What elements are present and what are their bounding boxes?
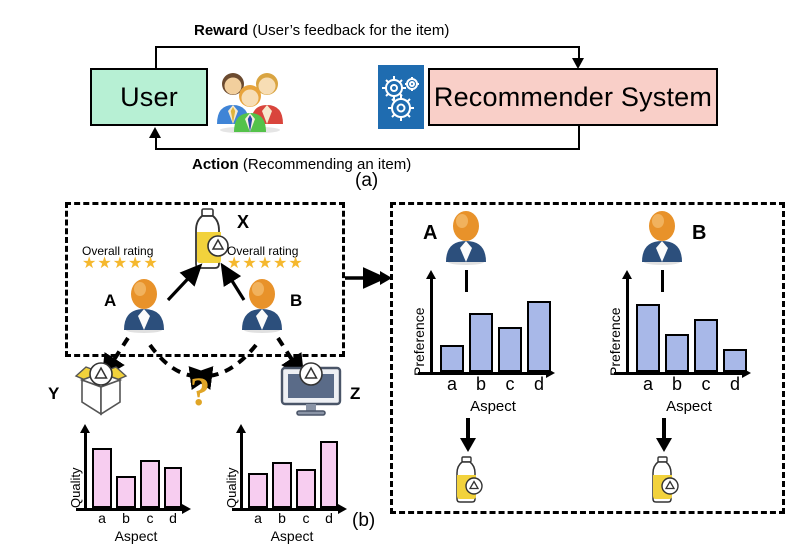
chart-quality-y-xlabel: Aspect <box>86 528 186 544</box>
bar-d <box>164 467 182 508</box>
xtick-c: c <box>296 510 316 526</box>
item-z-label: Z <box>350 384 360 404</box>
xtick-b: b <box>116 510 136 526</box>
user-box: User <box>90 68 208 126</box>
panel-a-caption: (a) <box>355 170 378 192</box>
xtick-a: a <box>636 374 660 395</box>
action-arrowhead <box>149 127 161 138</box>
xtick-c: c <box>140 510 160 526</box>
xtick-a: a <box>248 510 268 526</box>
bar-d <box>723 349 747 372</box>
xtick-a: a <box>92 510 112 526</box>
user-box-label: User <box>120 84 178 111</box>
chart-preference-b-ylabel: Preference <box>607 308 623 376</box>
action-arrow-segment-right <box>578 126 580 150</box>
open-box-icon <box>70 360 132 418</box>
xtick-d: d <box>723 374 747 395</box>
xtick-c: c <box>498 374 522 395</box>
bottle-icon <box>648 456 680 504</box>
bar-a <box>440 345 464 372</box>
action-arrow-segment-bottom <box>155 148 580 150</box>
chart-preference-a-ylabel: Preference <box>411 308 427 376</box>
user-avatar-icon <box>444 210 488 266</box>
action-label: Action (Recommending an item) <box>192 156 411 173</box>
chart-quality-z-ylabel: Quality <box>224 468 239 508</box>
chart-quality-z-xlabel: Aspect <box>242 528 342 544</box>
right-user-a-label: A <box>423 222 437 245</box>
recommend-arrow-b <box>654 418 674 454</box>
users-group-icon <box>214 62 286 134</box>
action-label-bold: Action <box>192 156 239 173</box>
chart-preference-a: Preference a b c d Aspect <box>403 268 573 418</box>
reward-label-rest: (User’s feedback for the item) <box>248 22 449 39</box>
chart-preference-b-xlabel: Aspect <box>629 398 749 415</box>
chart-quality-z: Quality a b c d Aspect <box>218 426 358 538</box>
bar-c <box>694 319 718 372</box>
bottle-icon <box>452 456 484 504</box>
reward-label-bold: Reward <box>194 22 248 39</box>
chart-preference-b: Preference a b c d Aspect <box>599 268 769 418</box>
user-avatar-icon <box>640 210 684 266</box>
bar-c <box>140 460 160 508</box>
chart-preference-a-xlabel: Aspect <box>433 398 553 415</box>
reward-arrow-segment-left <box>155 46 157 70</box>
bar-b <box>665 334 689 372</box>
xtick-a: a <box>440 374 464 395</box>
bar-d <box>527 301 551 372</box>
reward-arrow-segment-top <box>155 46 580 48</box>
bar-c <box>498 327 522 372</box>
bar-b <box>272 462 292 508</box>
recommender-system-label: Recommender System <box>434 84 712 111</box>
gears-icon <box>378 65 424 129</box>
question-mark-icon: ? <box>190 368 210 415</box>
bar-b <box>116 476 136 508</box>
bar-a <box>636 304 660 372</box>
bar-a <box>248 473 268 508</box>
chart-quality-y-ylabel: Quality <box>68 468 83 508</box>
monitor-icon <box>278 362 346 418</box>
bar-a <box>92 448 112 508</box>
bar-d <box>320 441 338 508</box>
xtick-d: d <box>320 510 338 526</box>
right-user-b-label: B <box>692 222 706 245</box>
xtick-d: d <box>164 510 182 526</box>
action-arrow-segment-left <box>155 137 157 150</box>
panel-b-aspect-preference: X Overall rating ★★★★★ Overall rating ★★… <box>0 190 800 548</box>
xtick-d: d <box>527 374 551 395</box>
xtick-b: b <box>469 374 493 395</box>
xtick-c: c <box>694 374 718 395</box>
reward-label: Reward (User’s feedback for the item) <box>194 22 449 39</box>
item-y-label: Y <box>48 384 59 404</box>
bar-b <box>469 313 493 372</box>
action-label-rest: (Recommending an item) <box>239 156 412 173</box>
chart-quality-y: Quality a b c d Aspect <box>62 426 202 538</box>
recommend-arrow-a <box>458 418 478 454</box>
panel-a-feedback-loop: Reward (User’s feedback for the item) Us… <box>0 0 800 190</box>
xtick-b: b <box>665 374 689 395</box>
panel-b-caption: (b) <box>352 510 375 532</box>
xtick-b: b <box>272 510 292 526</box>
bar-c <box>296 469 316 508</box>
recommender-system-box: Recommender System <box>428 68 718 126</box>
